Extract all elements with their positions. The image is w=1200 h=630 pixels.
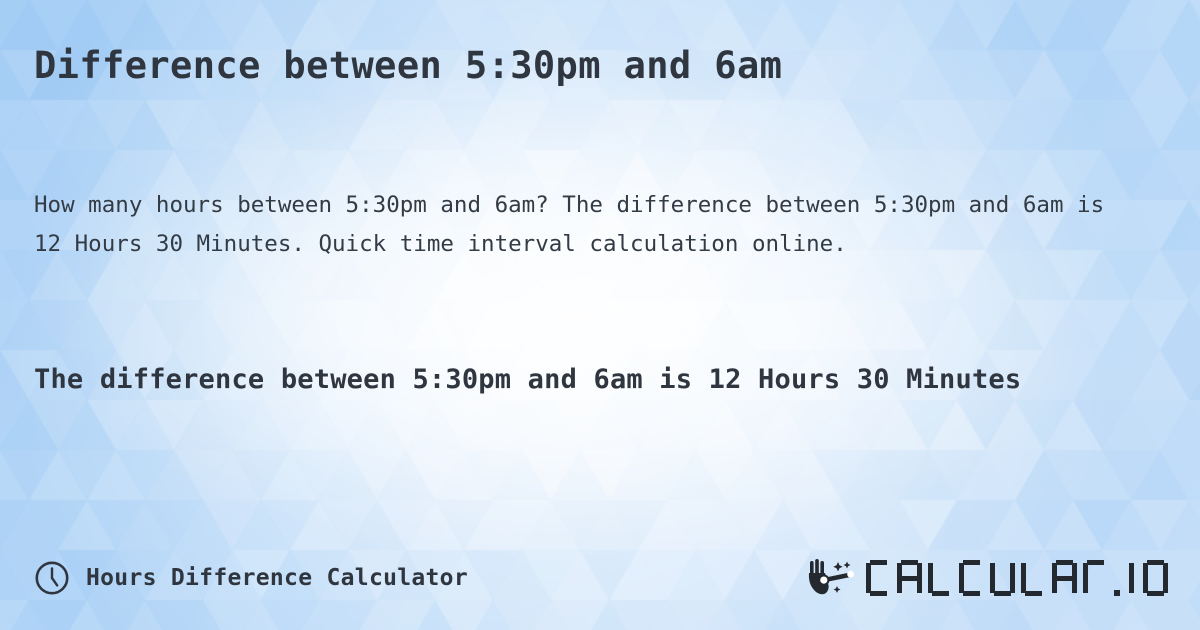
logo-char-c [959,560,984,596]
logo-char-dot [1114,590,1120,596]
logo-char-o [1143,560,1168,596]
page-title: Difference between 5:30pm and 6am [34,44,782,87]
site-logo[interactable] [807,559,1168,597]
footer-tool-label: Hours Difference Calculator [86,565,468,591]
footer: Hours Difference Calculator [34,554,1168,602]
logo-char-c [866,560,891,596]
result-heading: The difference between 5:30pm and 6am is… [34,356,1124,404]
page-content: Difference between 5:30pm and 6am How ma… [0,0,1200,630]
logo-char-l [1021,560,1046,596]
footer-brand[interactable]: Hours Difference Calculator [34,560,468,596]
logo-char-a [1052,560,1077,596]
clock-icon [34,560,70,596]
logo-char-i [1126,560,1137,596]
intro-paragraph: How many hours between 5:30pm and 6am? T… [34,186,1144,264]
logo-char-a [897,560,922,596]
logo-char-u [990,560,1015,596]
logo-char-t [1083,560,1108,596]
logo-char-l [928,560,953,596]
magic-wand-hand-icon [807,559,859,597]
logo-wordmark [866,560,1168,596]
